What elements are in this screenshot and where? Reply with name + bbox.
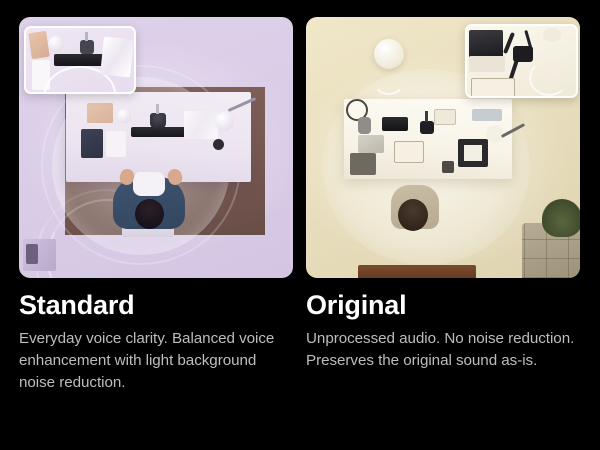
tray-object: [472, 109, 502, 121]
person-head: [135, 199, 164, 229]
speaker-object: [23, 239, 56, 271]
cup-object: [117, 109, 131, 123]
small-device-object: [442, 161, 454, 173]
inset-laptop-base-object: [469, 56, 505, 72]
inset-open-book-object: [100, 37, 134, 78]
person-shirt: [133, 172, 165, 196]
option-title-original: Original: [306, 290, 580, 321]
inset-laptop-object: [469, 30, 503, 58]
speaker-object: [374, 39, 404, 69]
laptop-object: [358, 135, 384, 153]
inset-picture-frame-object: [471, 78, 515, 98]
open-book-object: [184, 111, 218, 139]
inset-plate-object: [543, 28, 561, 42]
box-object: [434, 109, 456, 125]
plant-object: [542, 199, 580, 237]
preview-image-standard[interactable]: [19, 17, 293, 278]
option-description-original: Unprocessed audio. No noise reduction. P…: [306, 328, 578, 372]
inset-cup-object: [48, 36, 64, 52]
preview-image-original[interactable]: [306, 17, 580, 278]
microphone-object: [150, 113, 166, 129]
puck-object: [213, 139, 224, 150]
person-head: [398, 199, 428, 231]
inset-thumbnail-standard[interactable]: [24, 26, 136, 94]
open-case-object: [458, 139, 488, 167]
inset-microphone-object: [80, 40, 94, 54]
lamp-object: [215, 112, 234, 131]
option-card-original[interactable]: Original Unprocessed audio. No noise red…: [306, 17, 580, 394]
sideboard-object: [358, 265, 476, 278]
cup-object: [358, 117, 371, 134]
keyboard-object: [382, 117, 408, 131]
paper-object: [106, 131, 126, 157]
tablet-object: [81, 129, 103, 158]
inset-microphone-object: [513, 46, 533, 62]
audio-mode-comparison: Standard Everyday voice clarity. Balance…: [19, 17, 581, 394]
option-title-standard: Standard: [19, 290, 293, 321]
inset-notepad-object: [28, 31, 49, 59]
inset-sound-arc: [529, 60, 569, 96]
option-card-standard[interactable]: Standard Everyday voice clarity. Balance…: [19, 17, 293, 394]
notepad-object: [87, 103, 113, 123]
microphone-object: [420, 121, 434, 134]
option-description-standard: Everyday voice clarity. Balanced voice e…: [19, 328, 291, 394]
picture-frame-object: [394, 141, 424, 163]
inset-thumbnail-original[interactable]: [465, 24, 578, 98]
dark-pad-object: [350, 153, 376, 175]
